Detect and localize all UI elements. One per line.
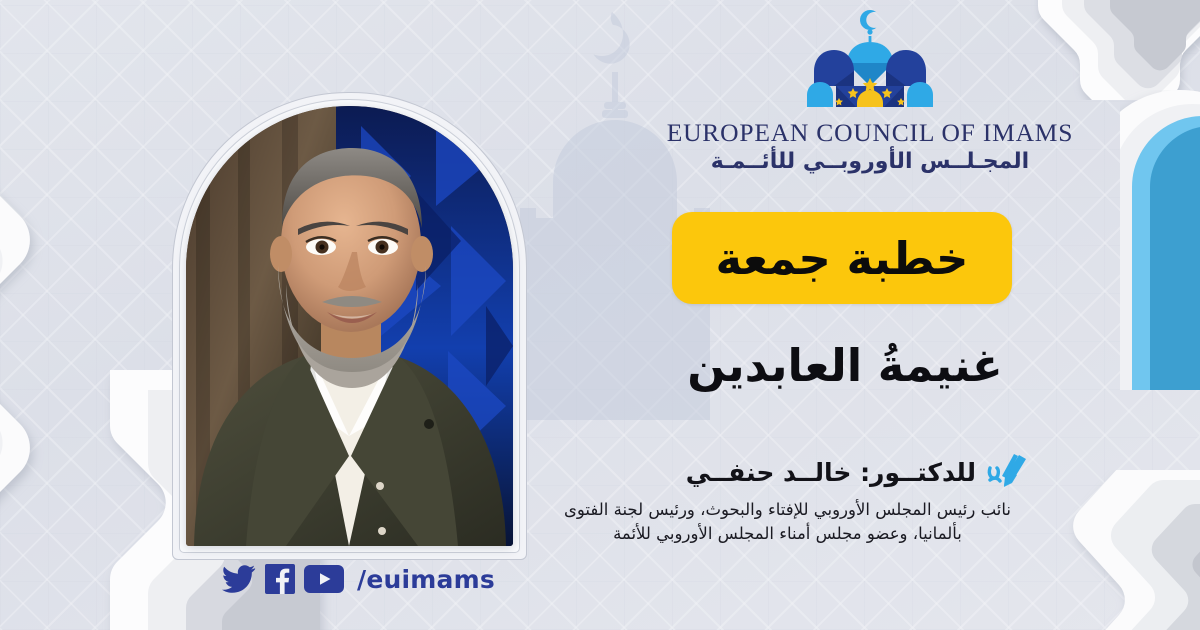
author-row: للدكتــور: خالــد حنفــي — [560, 446, 1030, 498]
brand-logo-block: EUROPEAN COUNCIL OF IMAMS المجـلــس الأو… — [660, 8, 1080, 188]
youtube-icon[interactable] — [304, 565, 344, 593]
author-description: نائب رئيس المجلس الأوروبي للإفتاء والبحو… — [545, 498, 1030, 546]
facebook-icon[interactable] — [265, 564, 295, 594]
brand-name-en: EUROPEAN COUNCIL OF IMAMS — [667, 118, 1074, 148]
portrait-photo — [186, 106, 513, 546]
social-handle[interactable]: /euimams — [357, 565, 495, 594]
layered-star-decor-left-icon — [0, 120, 190, 630]
speaker-portrait — [172, 92, 527, 560]
signature-pen-icon — [986, 452, 1030, 492]
poster-canvas: EUROPEAN COUNCIL OF IMAMS المجـلــس الأو… — [0, 0, 1200, 630]
brand-name-ar: المجـلــس الأوروبــي للأئــمـة — [711, 149, 1029, 174]
twitter-icon[interactable] — [222, 565, 256, 593]
sermon-type-badge: خطبة جمعة — [672, 212, 1012, 304]
author-name: للدكتــور: خالــد حنفــي — [686, 458, 976, 487]
social-bar: /euimams — [222, 560, 495, 598]
arch-window-decor-icon — [1120, 90, 1200, 390]
layered-chevron-decor-bottom-right-icon — [1055, 470, 1200, 630]
sermon-title: غنيمةُ العابدين — [600, 338, 1090, 394]
mosque-dome-logo-icon — [806, 8, 934, 112]
sermon-type-badge-label: خطبة جمعة — [716, 236, 969, 281]
portrait-image-clip — [186, 106, 513, 546]
